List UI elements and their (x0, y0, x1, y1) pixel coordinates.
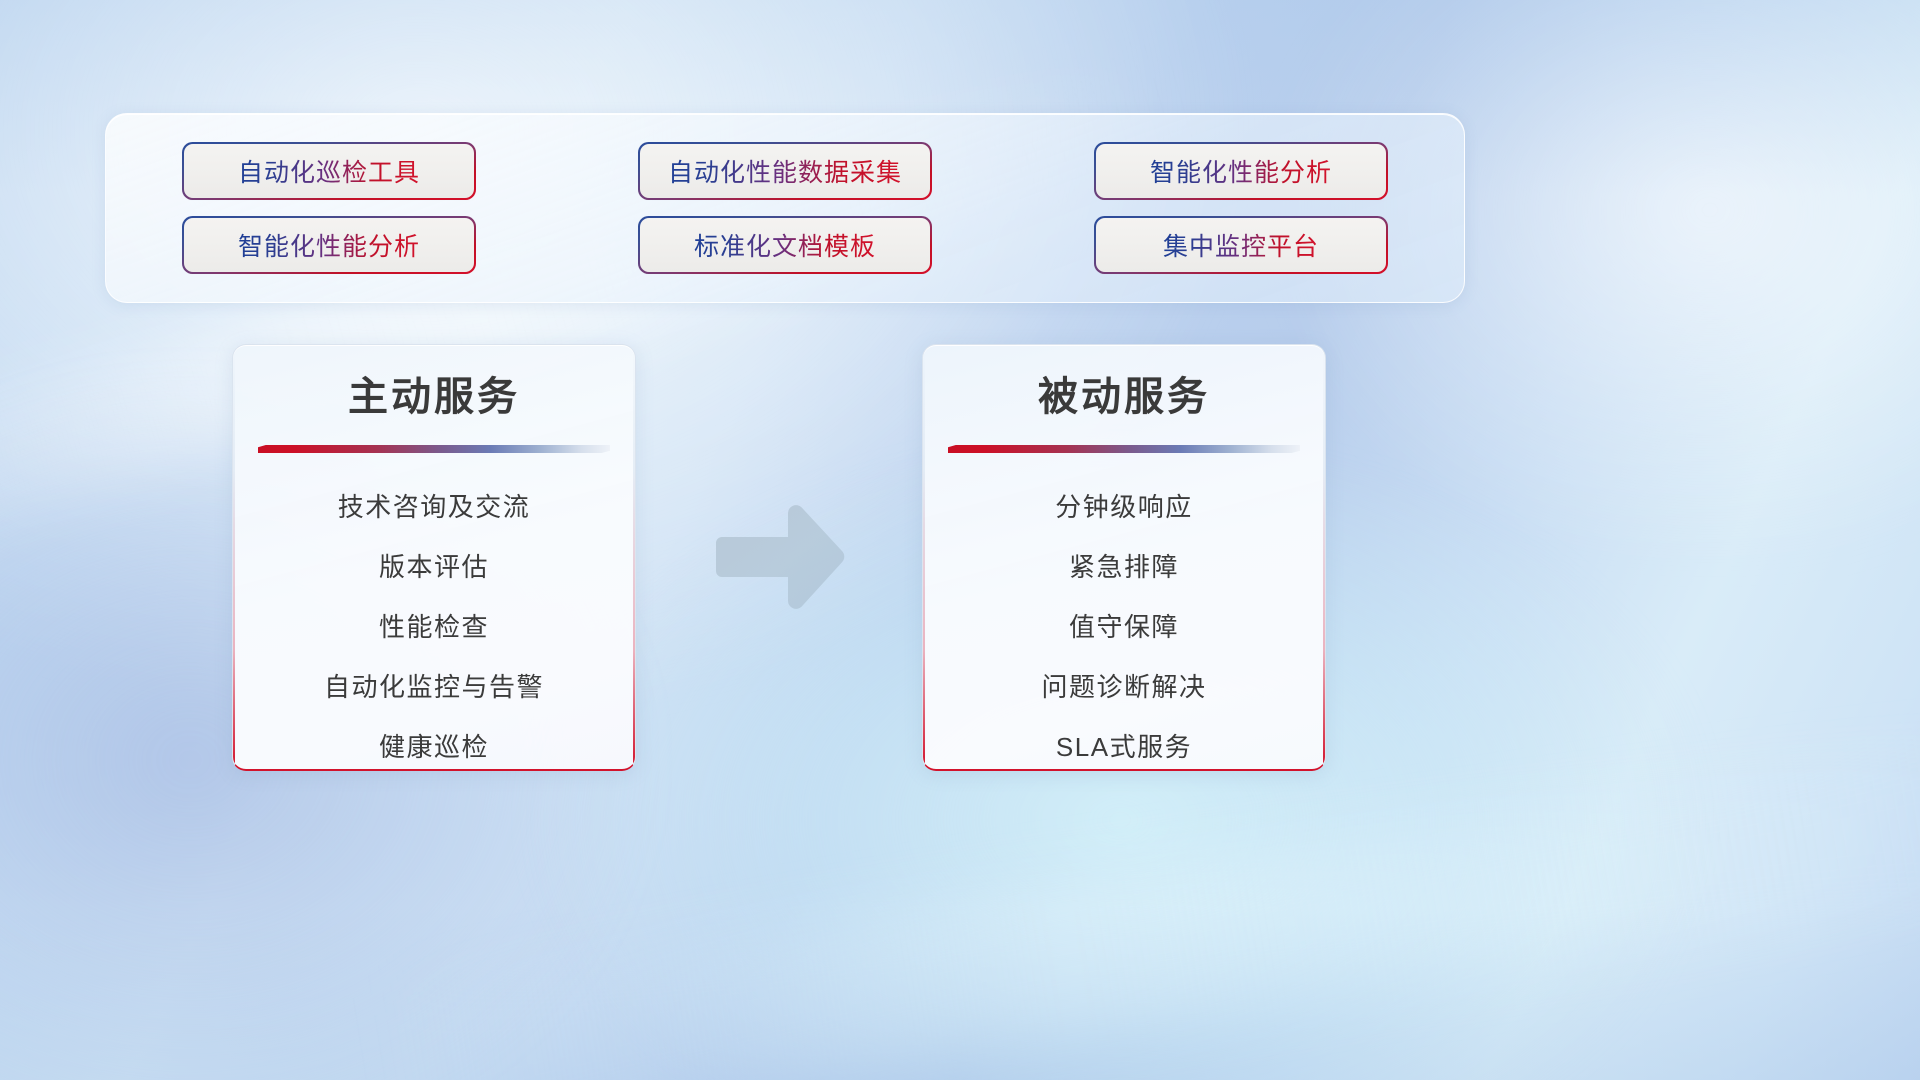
title-divider-bar (948, 445, 1300, 453)
service-list-item[interactable]: 分钟级响应 (923, 494, 1325, 520)
service-list-item[interactable]: 值守保障 (923, 614, 1325, 640)
title-divider (948, 445, 1300, 454)
service-card-passive: 被动服务 分钟级响应 紧急排障 值守保障 问题诊断解决 SLA式服务 (922, 344, 1326, 771)
capability-tag[interactable]: 标准化文档模板 (640, 218, 930, 272)
service-card-title: 主动服务 (233, 375, 635, 419)
capability-tag-label: 标准化文档模板 (694, 227, 876, 263)
capability-tag-label: 自动化性能数据采集 (668, 153, 902, 189)
service-card-title: 被动服务 (923, 375, 1325, 419)
capability-tag[interactable]: 智能化性能分析 (1096, 144, 1386, 198)
capability-tag-row-2: 智能化性能分析 标准化文档模板 集中监控平台 (184, 218, 1386, 272)
service-list-item[interactable]: 紧急排障 (923, 554, 1325, 580)
diagram-stage: 自动化巡检工具 自动化性能数据采集 智能化性能分析 智能化性能分析 标准化文档模… (0, 0, 1920, 1080)
capability-tag-label: 集中监控平台 (1163, 227, 1319, 263)
capability-tag[interactable]: 自动化巡检工具 (184, 144, 474, 198)
service-item-list: 技术咨询及交流 版本评估 性能检查 自动化监控与告警 健康巡检 (233, 494, 635, 760)
service-list-item[interactable]: 自动化监控与告警 (233, 674, 635, 700)
service-list-item[interactable]: SLA式服务 (923, 734, 1325, 760)
service-card-active: 主动服务 技术咨询及交流 版本评估 性能检查 自动化监控与告警 健康巡检 (232, 344, 636, 771)
capability-tag[interactable]: 智能化性能分析 (184, 218, 474, 272)
capability-tag-label: 智能化性能分析 (1150, 153, 1332, 189)
right-arrow-icon (716, 505, 848, 609)
capability-tag-row-1: 自动化巡检工具 自动化性能数据采集 智能化性能分析 (184, 144, 1386, 198)
capability-tag[interactable]: 自动化性能数据采集 (640, 144, 930, 198)
service-list-item[interactable]: 版本评估 (233, 554, 635, 580)
title-divider (258, 445, 610, 454)
service-list-item[interactable]: 问题诊断解决 (923, 674, 1325, 700)
service-item-list: 分钟级响应 紧急排障 值守保障 问题诊断解决 SLA式服务 (923, 494, 1325, 760)
service-list-item[interactable]: 技术咨询及交流 (233, 494, 635, 520)
capability-tag[interactable]: 集中监控平台 (1096, 218, 1386, 272)
title-divider-bar (258, 445, 610, 453)
capability-tag-label: 自动化巡检工具 (238, 153, 420, 189)
service-list-item[interactable]: 性能检查 (233, 614, 635, 640)
capability-tags-panel: 自动化巡检工具 自动化性能数据采集 智能化性能分析 智能化性能分析 标准化文档模… (105, 113, 1465, 303)
capability-tag-label: 智能化性能分析 (238, 227, 420, 263)
service-list-item[interactable]: 健康巡检 (233, 734, 635, 760)
